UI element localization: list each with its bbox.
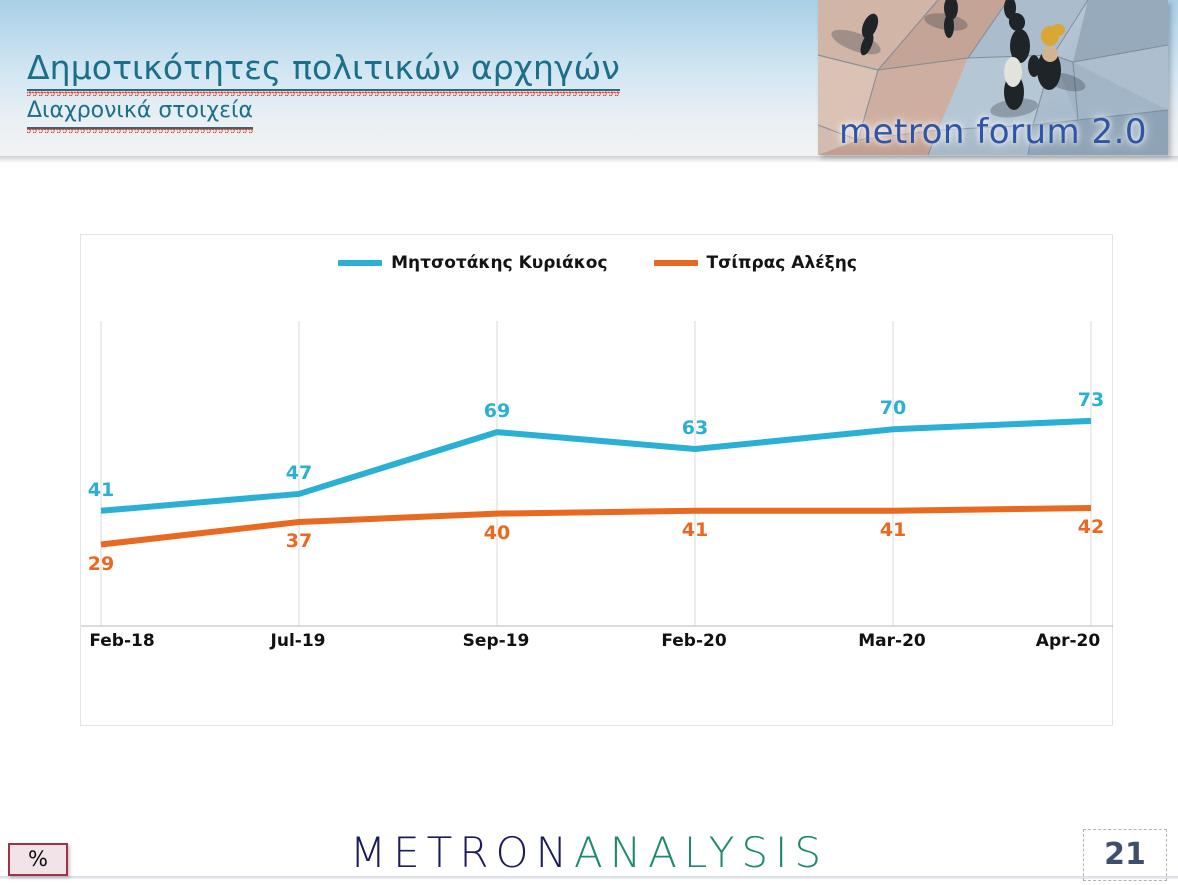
x-axis-label: Feb-20 (661, 631, 726, 651)
chart-x-axis-labels: Feb-18Jul-19Sep-19Feb-20Mar-20Apr-20 (80, 631, 1113, 657)
title-block: Δημοτικότητες πολιτικών αρχηγών Διαχρονι… (27, 48, 817, 129)
page-number-box: 21 (1083, 829, 1167, 881)
brand-analysis: ANALYSIS (574, 828, 828, 877)
series-line-tsipras (101, 508, 1091, 545)
x-axis-label: Apr-20 (1036, 631, 1100, 651)
brand-logo: METRONANALYSIS (0, 832, 1178, 874)
data-label: 41 (88, 479, 114, 501)
page-number: 21 (1104, 840, 1146, 870)
data-label: 47 (286, 462, 312, 484)
data-label: 69 (484, 400, 510, 422)
data-label: 29 (88, 553, 114, 575)
page-title: Δημοτικότητες πολιτικών αρχηγών (27, 48, 620, 91)
x-axis-label: Feb-18 (89, 631, 154, 651)
x-axis-label: Mar-20 (858, 631, 926, 651)
data-label: 41 (682, 519, 708, 541)
header-shadow (0, 156, 1178, 163)
data-label: 42 (1078, 516, 1104, 538)
chart-gridlines (81, 321, 1113, 626)
data-label: 37 (286, 530, 312, 552)
page-subtitle: Διαχρονικά στοιχεία (27, 96, 253, 129)
series-line-mitsotakis (101, 421, 1091, 511)
data-label: 70 (880, 397, 906, 419)
metron-forum-logo: metron forum 2.0 (818, 0, 1168, 155)
data-label: 40 (484, 522, 510, 544)
page-subtitle-text: Διαχρονικά στοιχεία (27, 98, 253, 123)
slide: Δημοτικότητες πολιτικών αρχηγών Διαχρονι… (0, 0, 1178, 885)
page-title-text: Δημοτικότητες πολιτικών αρχηγών (27, 48, 620, 87)
x-axis-label: Sep-19 (463, 631, 530, 651)
logo-text: metron forum 2.0 (818, 112, 1168, 152)
x-axis-label: Jul-19 (271, 631, 326, 651)
data-label: 41 (880, 519, 906, 541)
data-label: 63 (682, 417, 708, 439)
brand-metron: METRON (350, 828, 574, 877)
data-label: 73 (1078, 389, 1104, 411)
